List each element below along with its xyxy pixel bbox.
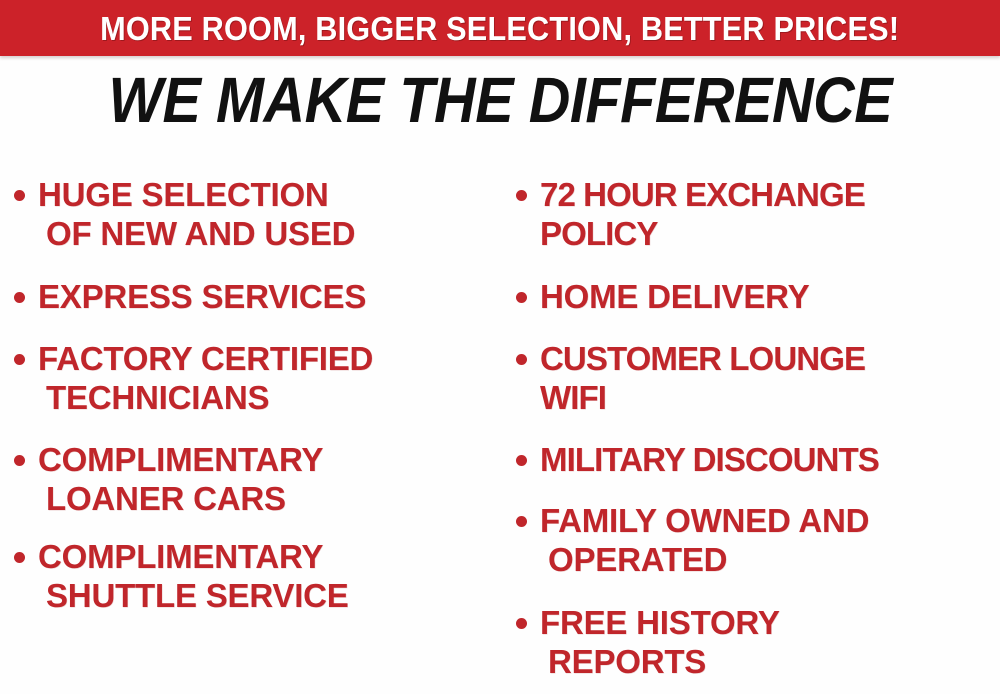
bullet-dot-icon — [516, 292, 527, 303]
bullet-dot-icon — [516, 618, 527, 629]
list-item-line1: FAMILY OWNED AND — [540, 501, 869, 540]
bullet-dot-icon — [14, 552, 25, 563]
bullet-dot-icon — [14, 292, 25, 303]
list-item-line2: WIFI — [540, 378, 865, 417]
bullet-dot-icon — [14, 354, 25, 365]
list-item-line1: HOME DELIVERY — [540, 277, 809, 316]
list-item-label: COMPLIMENTARY LOANER CARS — [38, 440, 323, 518]
benefits-column-right: 72 HOUR EXCHANGE POLICY HOME DELIVERY CU… — [516, 155, 1000, 694]
list-item-label: CUSTOMER LOUNGE WIFI — [540, 339, 865, 417]
list-item-line2: OF NEW AND USED — [38, 214, 355, 253]
list-item-line1: MILITARY DISCOUNTS — [540, 440, 879, 479]
bullet-dot-icon — [516, 455, 527, 466]
list-item: FACTORY CERTIFIED TECHNICIANS — [14, 339, 373, 417]
list-item-line2: POLICY — [540, 214, 865, 253]
bullet-dot-icon — [516, 190, 527, 201]
bullet-dot-icon — [14, 455, 25, 466]
promo-banner-text: MORE ROOM, BIGGER SELECTION, BETTER PRIC… — [100, 12, 899, 45]
list-item-line1: HUGE SELECTION — [38, 175, 355, 214]
list-item-label: FAMILY OWNED AND OPERATED — [540, 501, 869, 579]
list-item-label: HOME DELIVERY — [540, 277, 809, 316]
list-item-line2: LOANER CARS — [38, 479, 323, 518]
list-item-label: EXPRESS SERVICES — [38, 277, 366, 316]
list-item-line1: COMPLIMENTARY — [38, 537, 349, 576]
advertisement-banner: MORE ROOM, BIGGER SELECTION, BETTER PRIC… — [0, 0, 1000, 694]
list-item: EXPRESS SERVICES — [14, 277, 366, 316]
list-item: FREE HISTORY REPORTS — [516, 603, 780, 681]
list-item: COMPLIMENTARY LOANER CARS — [14, 440, 323, 518]
list-item-label: COMPLIMENTARY SHUTTLE SERVICE — [38, 537, 349, 615]
list-item: CUSTOMER LOUNGE WIFI — [516, 339, 865, 417]
list-item-line2: OPERATED — [540, 540, 869, 579]
list-item-label: 72 HOUR EXCHANGE POLICY — [540, 175, 865, 253]
benefits-columns: HUGE SELECTION OF NEW AND USED EXPRESS S… — [0, 155, 1000, 694]
list-item: 72 HOUR EXCHANGE POLICY — [516, 175, 865, 253]
list-item-line1: COMPLIMENTARY — [38, 440, 323, 479]
bullet-dot-icon — [516, 354, 527, 365]
list-item-label: FACTORY CERTIFIED TECHNICIANS — [38, 339, 373, 417]
list-item-line1: FREE HISTORY — [540, 603, 780, 642]
list-item-line2: REPORTS — [540, 642, 780, 681]
list-item-label: HUGE SELECTION OF NEW AND USED — [38, 175, 355, 253]
list-item-line2: TECHNICIANS — [38, 378, 373, 417]
list-item: HOME DELIVERY — [516, 277, 809, 316]
benefits-column-left: HUGE SELECTION OF NEW AND USED EXPRESS S… — [14, 155, 500, 694]
bullet-dot-icon — [14, 190, 25, 201]
bullet-dot-icon — [516, 516, 527, 527]
list-item-line1: CUSTOMER LOUNGE — [540, 339, 865, 378]
list-item: MILITARY DISCOUNTS — [516, 440, 879, 479]
list-item: COMPLIMENTARY SHUTTLE SERVICE — [14, 537, 349, 615]
list-item-label: MILITARY DISCOUNTS — [540, 440, 879, 479]
list-item-line1: EXPRESS SERVICES — [38, 277, 366, 316]
list-item: HUGE SELECTION OF NEW AND USED — [14, 175, 355, 253]
list-item-label: FREE HISTORY REPORTS — [540, 603, 780, 681]
headline-text: WE MAKE THE DIFFERENCE — [108, 68, 892, 132]
list-item-line1: 72 HOUR EXCHANGE — [540, 175, 865, 214]
list-item-line2: SHUTTLE SERVICE — [38, 576, 349, 615]
top-promo-banner: MORE ROOM, BIGGER SELECTION, BETTER PRIC… — [0, 0, 1000, 56]
headline: WE MAKE THE DIFFERENCE — [0, 68, 1000, 132]
list-item: FAMILY OWNED AND OPERATED — [516, 501, 869, 579]
list-item-line1: FACTORY CERTIFIED — [38, 339, 373, 378]
